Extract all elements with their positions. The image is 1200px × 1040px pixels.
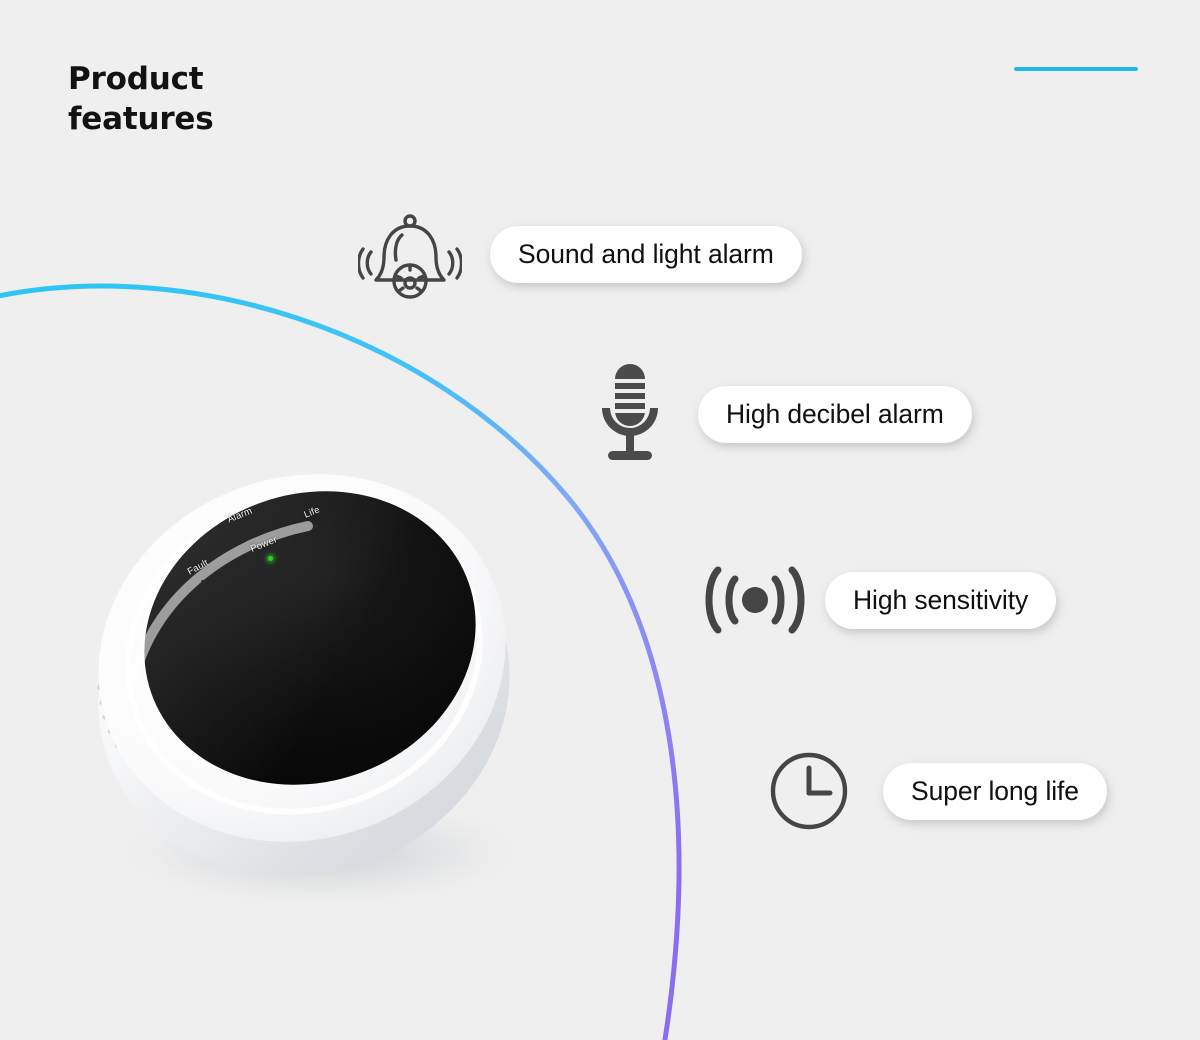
feature-row-high-sensitivity: High sensitivity	[705, 562, 1056, 638]
alarm-led	[238, 527, 242, 531]
product-device-image: Alarm Life Power Fault	[72, 452, 532, 902]
bell-alarm-icon	[358, 208, 462, 300]
clock-icon	[766, 748, 852, 834]
feature-pill-high-decibel-alarm[interactable]: High decibel alarm	[698, 386, 972, 443]
microphone-icon	[596, 362, 664, 466]
feature-row-super-long-life: Super long life	[766, 748, 1107, 834]
feature-pill-sound-and-light-alarm[interactable]: Sound and light alarm	[490, 226, 802, 283]
feature-label: Super long life	[911, 776, 1079, 807]
page-title: Product features	[68, 60, 213, 139]
product-features-slide: Product features	[0, 0, 1200, 1040]
feature-label: High sensitivity	[853, 585, 1028, 616]
life-led	[314, 524, 318, 528]
signal-waves-icon	[705, 562, 805, 638]
device-illustration	[72, 452, 532, 902]
accent-bar	[1014, 67, 1138, 71]
feature-row-high-decibel-alarm: High decibel alarm	[596, 362, 972, 466]
feature-pill-super-long-life[interactable]: Super long life	[883, 763, 1107, 820]
feature-pill-high-sensitivity[interactable]: High sensitivity	[825, 572, 1056, 629]
fault-led	[201, 580, 205, 584]
feature-label: High decibel alarm	[726, 399, 944, 430]
power-led	[268, 556, 273, 561]
feature-row-sound-and-light-alarm: Sound and light alarm	[358, 208, 802, 300]
feature-label: Sound and light alarm	[518, 239, 774, 270]
